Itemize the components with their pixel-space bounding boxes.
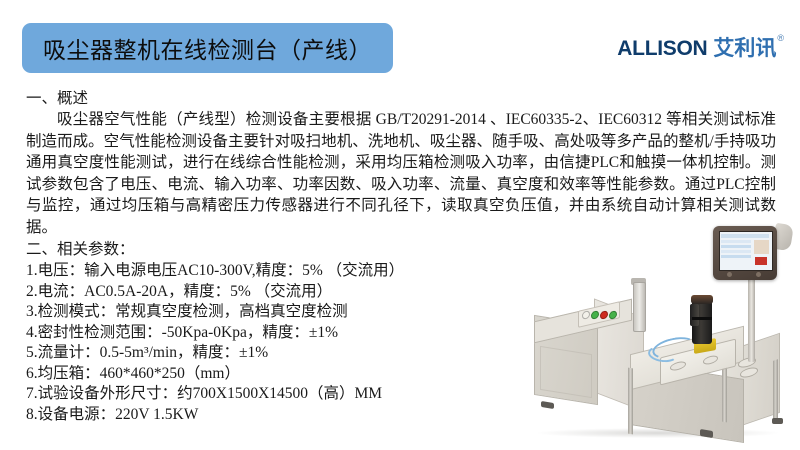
device-under-test-band (692, 317, 712, 320)
left-cabinet-access-door (540, 346, 592, 398)
hmi-alarm-indicator (755, 257, 767, 265)
device-under-test-cap (691, 295, 713, 304)
hmi-data-row-3 (721, 250, 751, 253)
hmi-data-row-1 (721, 240, 751, 243)
overview-heading: 一、概述 (26, 88, 778, 109)
hmi-data-row-4 (721, 255, 751, 258)
hmi-data-row-2 (721, 245, 751, 248)
brand-chinese-name: 艾利讯 (713, 38, 776, 59)
device-under-test-handle (690, 304, 699, 326)
hmi-button-right-icon[interactable] (756, 272, 761, 277)
hmi-mounting-pole (748, 270, 755, 362)
hmi-button-left-icon[interactable] (727, 272, 732, 277)
machine-foot-3 (772, 418, 783, 424)
bench-frame-rail-right (773, 359, 778, 423)
page-title-banner: 吸尘器整机在线检测台（产线） (22, 23, 393, 73)
overview-paragraph: 吸尘器空气性能（产线型）检测设备主要根据 GB/T20291-2014 、IEC… (26, 109, 776, 238)
registered-trademark-icon: ® (777, 34, 784, 43)
hmi-header-bar (721, 234, 769, 238)
page-title: 吸尘器整机在线检测台（产线） (43, 31, 372, 65)
bench-frame-rail-left (628, 368, 633, 435)
machine-foot-1 (541, 401, 554, 409)
hmi-side-panel (754, 240, 769, 254)
equipment-photo (520, 222, 800, 450)
pneumatic-cylinder (633, 282, 646, 332)
brand-latin-name: ALLISON (617, 38, 707, 59)
brand-logo: ALLISON 艾利讯 ® (617, 38, 784, 59)
